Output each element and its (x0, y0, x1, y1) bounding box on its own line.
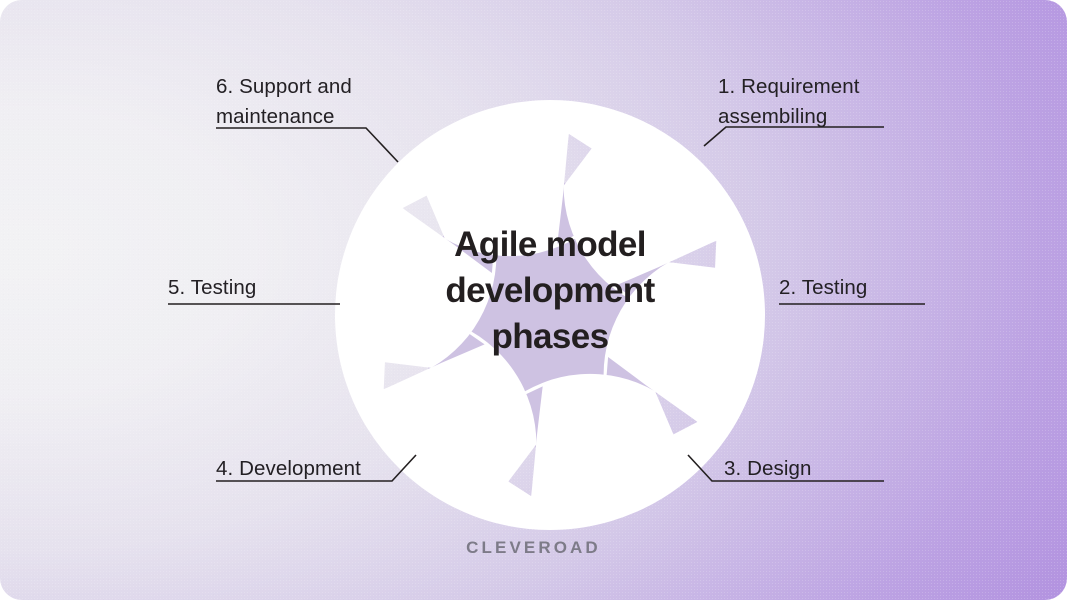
phase-label-development: 4. Development (216, 454, 456, 484)
phase-label-design: 3. Design (724, 454, 924, 484)
agile-phases-infographic: Agile model development phases 1. Requir… (0, 0, 1067, 600)
phase-label-testing-5: 5. Testing (168, 273, 368, 303)
center-title: Agile model development phases (396, 222, 704, 360)
phase-label-testing-2: 2. Testing (779, 273, 979, 303)
phase-label-requirement-assembiling: 1. Requirement assembiling (718, 72, 938, 132)
phase-label-support-and-maintenance: 6. Support and maintenance (216, 72, 456, 132)
brand-wordmark: CLEVEROAD (0, 538, 1067, 558)
